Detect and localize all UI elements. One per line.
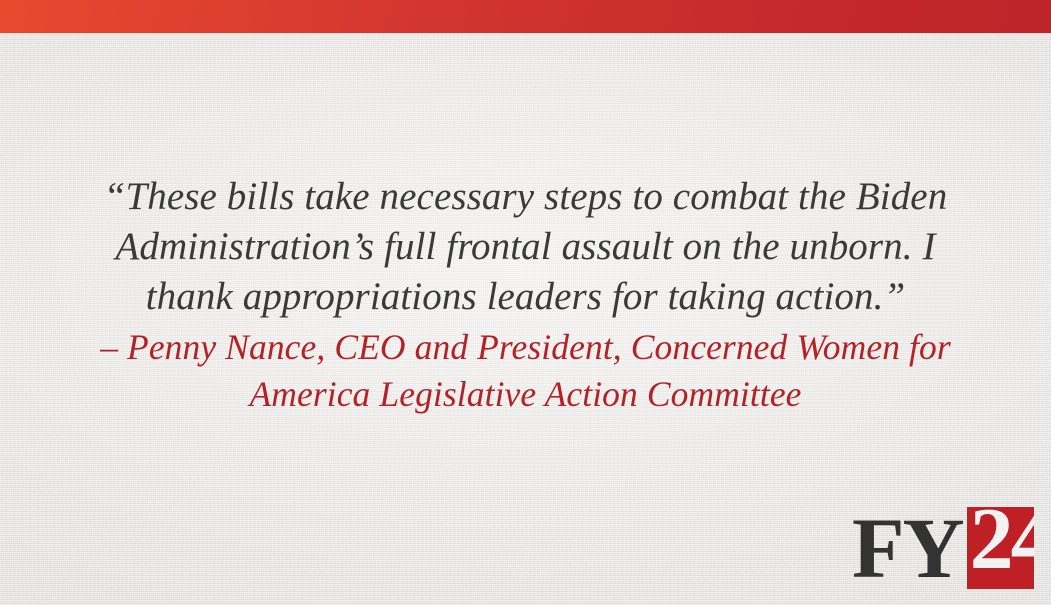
fy24-logo: FY 24 bbox=[852, 503, 1034, 591]
fy24-logo-prefix: FY bbox=[852, 505, 963, 591]
quote-line-1: “These bills take necessary steps to com… bbox=[0, 172, 1051, 222]
fy24-logo-year-badge: 24 bbox=[967, 507, 1034, 589]
fy24-logo-year: 24 bbox=[967, 507, 1034, 584]
attribution-line-1: – Penny Nance, CEO and President, Concer… bbox=[0, 324, 1051, 371]
quote-line-2: Administration’s full frontal assault on… bbox=[0, 222, 1051, 272]
top-accent-bar bbox=[0, 0, 1051, 33]
quote-block: “These bills take necessary steps to com… bbox=[0, 172, 1051, 418]
quote-line-3: thank appropriations leaders for taking … bbox=[0, 272, 1051, 322]
attribution-line-2: America Legislative Action Committee bbox=[0, 371, 1051, 418]
quote-slide: “These bills take necessary steps to com… bbox=[0, 0, 1051, 605]
